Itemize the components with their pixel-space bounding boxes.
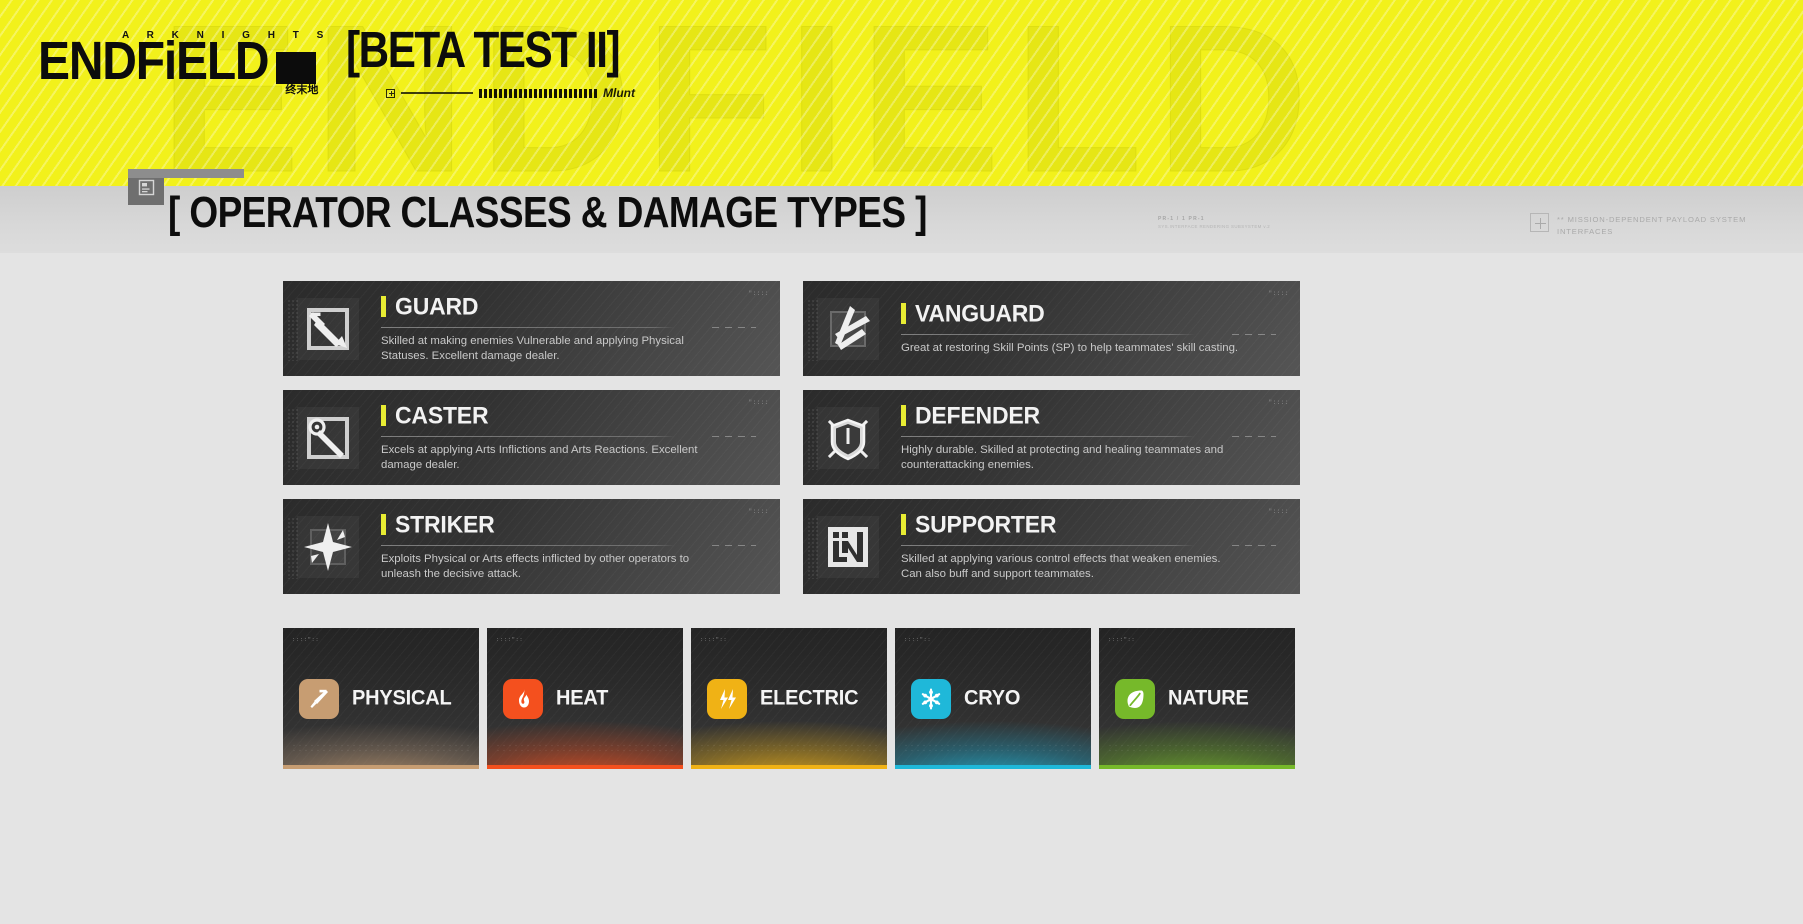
class-accent-tick (901, 514, 906, 535)
class-name: SUPPORTER (915, 510, 1056, 539)
card-underline (691, 765, 887, 769)
damage-card-nature[interactable]: ::::":: NATURE (1099, 628, 1295, 769)
damage-card-physical[interactable]: ::::":: PHYSICAL (283, 628, 479, 769)
card-corner-marker: ::::":: (496, 636, 523, 643)
class-name: GUARD (395, 292, 478, 321)
decor-line (401, 92, 473, 94)
card-divider (901, 334, 1278, 335)
card-divider (901, 436, 1278, 437)
card-underline (283, 765, 479, 769)
class-card-supporter[interactable]: ":::: SUPPORTER (803, 499, 1300, 594)
card-dot-pattern (903, 743, 1083, 753)
class-accent-tick (381, 296, 386, 317)
card-dot-pattern (699, 743, 879, 753)
operator-classes-grid: ":::: GUARD Skilled at making enemies Vu… (283, 281, 1519, 594)
vanguard-slashes-icon (817, 298, 879, 360)
snowflake-icon (911, 679, 951, 719)
defender-shield-icon (817, 407, 879, 469)
titlebar-note-right: ** MISSION-DEPENDENT PAYLOAD SYSTEM INTE… (1530, 213, 1803, 238)
damage-type-name: NATURE (1168, 686, 1249, 711)
class-card-striker[interactable]: ":::: STRIKER Exploits Physical or Arts … (283, 499, 780, 594)
title-tab-accent-bar (128, 169, 244, 178)
plus-box-icon (1530, 213, 1549, 232)
guard-sword-icon (297, 298, 359, 360)
class-name: DEFENDER (915, 401, 1040, 430)
header-banner: ENDFIELD A R K N I G H T S ENDFiELD 终末地 … (0, 0, 1803, 186)
damage-type-name: HEAT (556, 686, 608, 711)
class-card-guard[interactable]: ":::: GUARD Skilled at making enemies Vu… (283, 281, 780, 376)
card-corner-marker: ":::: (1268, 290, 1289, 297)
class-name: VANGUARD (915, 300, 1045, 329)
class-card-vanguard[interactable]: ":::: VANGUARD Great at restoring (803, 281, 1300, 376)
flame-icon (503, 679, 543, 719)
damage-card-electric[interactable]: ::::":: ELECTRIC (691, 628, 887, 769)
card-dot-pattern (291, 743, 471, 753)
class-accent-tick (901, 405, 906, 426)
card-corner-marker: ::::":: (292, 636, 319, 643)
leaf-icon (1115, 679, 1155, 719)
page-title: [ OPERATOR CLASSES & DAMAGE TYPES ] (168, 188, 927, 238)
card-dot-pattern (1107, 743, 1287, 753)
titlebar-note-left-line2: SYS.INTERFACE RENDERING SUBSYSTEM v.2 (1158, 224, 1270, 231)
card-corner-marker: ::::":: (904, 636, 931, 643)
class-name: STRIKER (395, 510, 495, 539)
class-description: Skilled at making enemies Vulnerable and… (381, 334, 721, 364)
damage-type-name: ELECTRIC (760, 686, 858, 711)
class-card-caster[interactable]: ":::: CASTER Excels at applying Arts Inf… (283, 390, 780, 485)
card-divider (381, 545, 758, 546)
plus-icon (386, 89, 395, 98)
card-divider (381, 327, 758, 328)
card-underline (895, 765, 1091, 769)
lightning-icon (707, 679, 747, 719)
damage-types-row: ::::":: PHYSICAL ::::":: (283, 628, 1295, 769)
card-divider (901, 545, 1278, 546)
titlebar-note-left-line1: PR-1 / 1 PR-1 (1158, 216, 1270, 222)
class-accent-tick (901, 303, 906, 324)
supporter-glyph-icon (817, 516, 879, 578)
class-accent-tick (381, 405, 386, 426)
logo-square-mark: 终末地 (276, 52, 316, 84)
card-underline (1099, 765, 1295, 769)
card-corner-marker: ::::":: (700, 636, 727, 643)
beta-decoration-row: Mlunt (386, 86, 635, 100)
banner-stripe-pattern (0, 0, 1803, 186)
damage-card-heat[interactable]: ::::":: HEAT (487, 628, 683, 769)
page-root: ENDFIELD A R K N I G H T S ENDFiELD 终末地 … (0, 0, 1803, 924)
decor-dashes (479, 89, 597, 98)
striker-star-icon (297, 516, 359, 578)
beta-test-label: [BETA TEST II] (346, 25, 623, 76)
class-description: Highly durable. Skilled at protecting an… (901, 443, 1241, 473)
damage-card-cryo[interactable]: ::::":: (895, 628, 1091, 769)
damage-type-name: PHYSICAL (352, 686, 452, 711)
beta-test-badge: [BETA TEST II] Mlunt (346, 32, 635, 100)
damage-type-name: CRYO (964, 686, 1020, 711)
titlebar-note-left: PR-1 / 1 PR-1 SYS.INTERFACE RENDERING SU… (1158, 216, 1270, 231)
endfield-logo: A R K N I G H T S ENDFiELD 终末地 (38, 30, 331, 87)
class-description: Skilled at applying various control effe… (901, 552, 1241, 582)
class-description: Excels at applying Arts Inflictions and … (381, 443, 721, 473)
caster-staff-icon (297, 407, 359, 469)
class-card-defender[interactable]: ":::: DEFENDER (803, 390, 1300, 485)
logo-wordmark: ENDFiELD (38, 38, 268, 87)
logo-chinese-subtitle: 终末地 (285, 81, 318, 97)
class-description: Exploits Physical or Arts effects inflic… (381, 552, 721, 582)
card-divider (381, 436, 758, 437)
card-underline (487, 765, 683, 769)
titlebar-note-right-text: ** MISSION-DEPENDENT PAYLOAD SYSTEM INTE… (1557, 213, 1803, 238)
sword-icon (299, 679, 339, 719)
card-corner-marker: ::::":: (1108, 636, 1135, 643)
class-name: CASTER (395, 401, 488, 430)
beta-script-mark: Mlunt (603, 86, 635, 100)
class-accent-tick (381, 514, 386, 535)
class-description: Great at restoring Skill Points (SP) to … (901, 341, 1241, 356)
card-dot-pattern (495, 743, 675, 753)
